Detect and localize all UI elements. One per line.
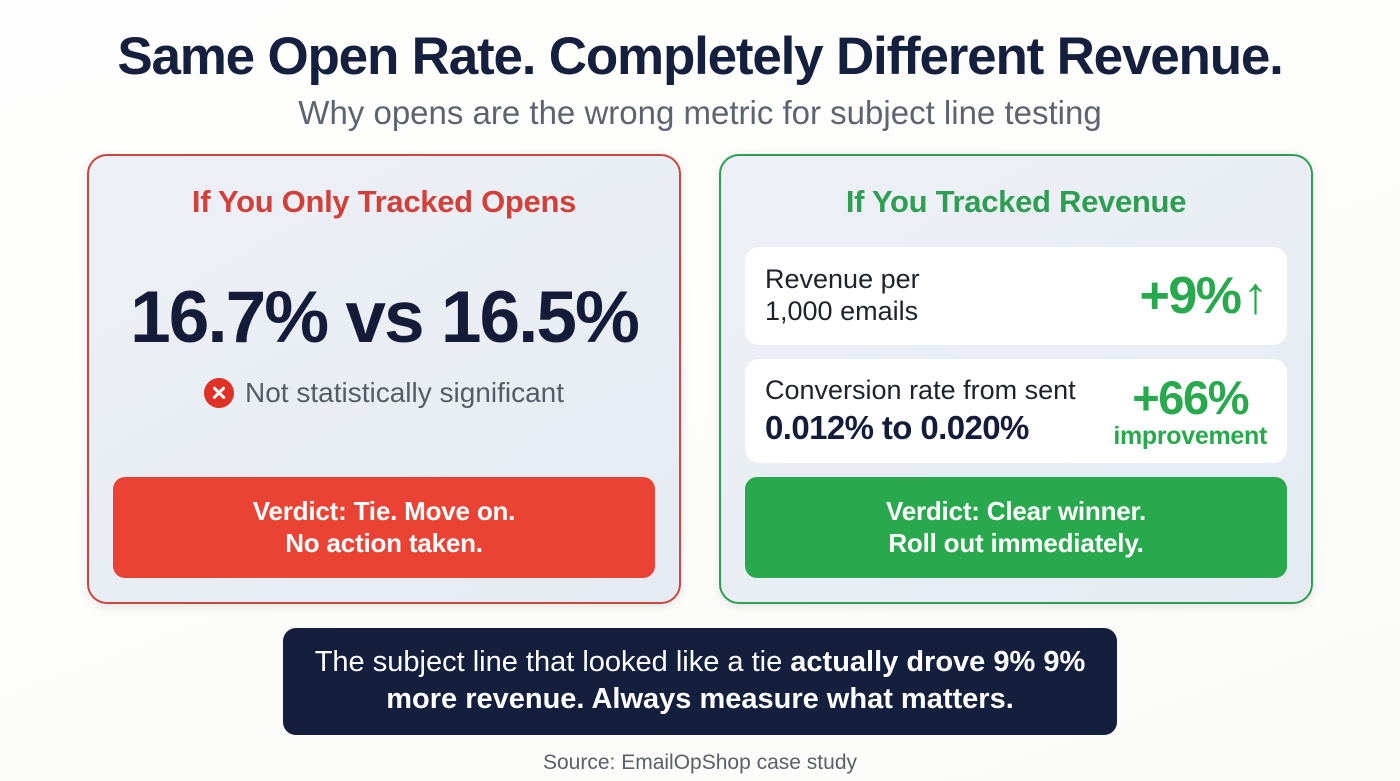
stat-delta-caption: improvement [1113, 424, 1267, 449]
card-revenue: If You Tracked Revenue Revenue per 1,000… [719, 154, 1313, 604]
page-title: Same Open Rate. Completely Different Rev… [0, 28, 1400, 85]
card-opens-body: 16.7% vs 16.5% Not statistically signifi… [113, 212, 655, 478]
x-circle-icon [204, 378, 234, 408]
stat-delta-revenue-per-1000: +9% ↑ [1139, 270, 1267, 322]
comparison-cards: If You Only Tracked Opens 16.7% vs 16.5%… [0, 154, 1400, 604]
stat-label-line-1: Revenue per [765, 264, 920, 296]
stat-delta-value: +9% [1139, 270, 1240, 322]
stat-delta-value: +66% [1113, 374, 1267, 421]
stat-row-revenue-per-1000: Revenue per 1,000 emails +9% ↑ [745, 247, 1287, 345]
significance-row: Not statistically significant [204, 378, 564, 408]
verdict-revenue-line-2: Roll out immediately. [755, 527, 1277, 559]
stat-label-revenue-per-1000: Revenue per 1,000 emails [765, 264, 920, 328]
card-opens: If You Only Tracked Opens 16.7% vs 16.5%… [87, 154, 681, 604]
infographic-poster: Same Open Rate. Completely Different Rev… [0, 0, 1400, 781]
stat-value-conversion-rate: 0.012% to 0.020% [765, 409, 1076, 448]
significance-text: Not statistically significant [245, 379, 564, 407]
arrow-up-icon: ↑ [1243, 270, 1268, 322]
takeaway-banner: The subject line that looked like a tie … [283, 628, 1117, 735]
verdict-opens-line-1: Verdict: Tie. Move on. [123, 495, 645, 527]
stat-label-conversion-rate: Conversion rate from sent 0.012% to 0.02… [765, 375, 1076, 448]
verdict-opens-line-2: No action taken. [123, 527, 645, 559]
stat-label-line-2: 1,000 emails [765, 296, 920, 328]
stat-delta-conversion-rate: +66% improvement [1113, 374, 1267, 449]
stat-row-conversion-rate: Conversion rate from sent 0.012% to 0.02… [745, 359, 1287, 463]
verdict-revenue: Verdict: Clear winner. Roll out immediat… [745, 477, 1287, 577]
card-revenue-heading: If You Tracked Revenue [745, 184, 1287, 220]
page-subtitle: Why opens are the wrong metric for subje… [0, 95, 1400, 131]
verdict-revenue-line-1: Verdict: Clear winner. [755, 495, 1277, 527]
header: Same Open Rate. Completely Different Rev… [0, 0, 1400, 132]
open-rate-figure: 16.7% vs 16.5% [130, 281, 638, 354]
takeaway-plain: The subject line that looked like a tie [315, 646, 791, 678]
card-revenue-body: Revenue per 1,000 emails +9% ↑ Conversio… [745, 234, 1287, 478]
stat-label-line-1: Conversion rate from sent [765, 375, 1076, 407]
source-note: Source: EmailOpShop case study [0, 751, 1400, 775]
verdict-opens: Verdict: Tie. Move on. No action taken. [113, 477, 655, 577]
